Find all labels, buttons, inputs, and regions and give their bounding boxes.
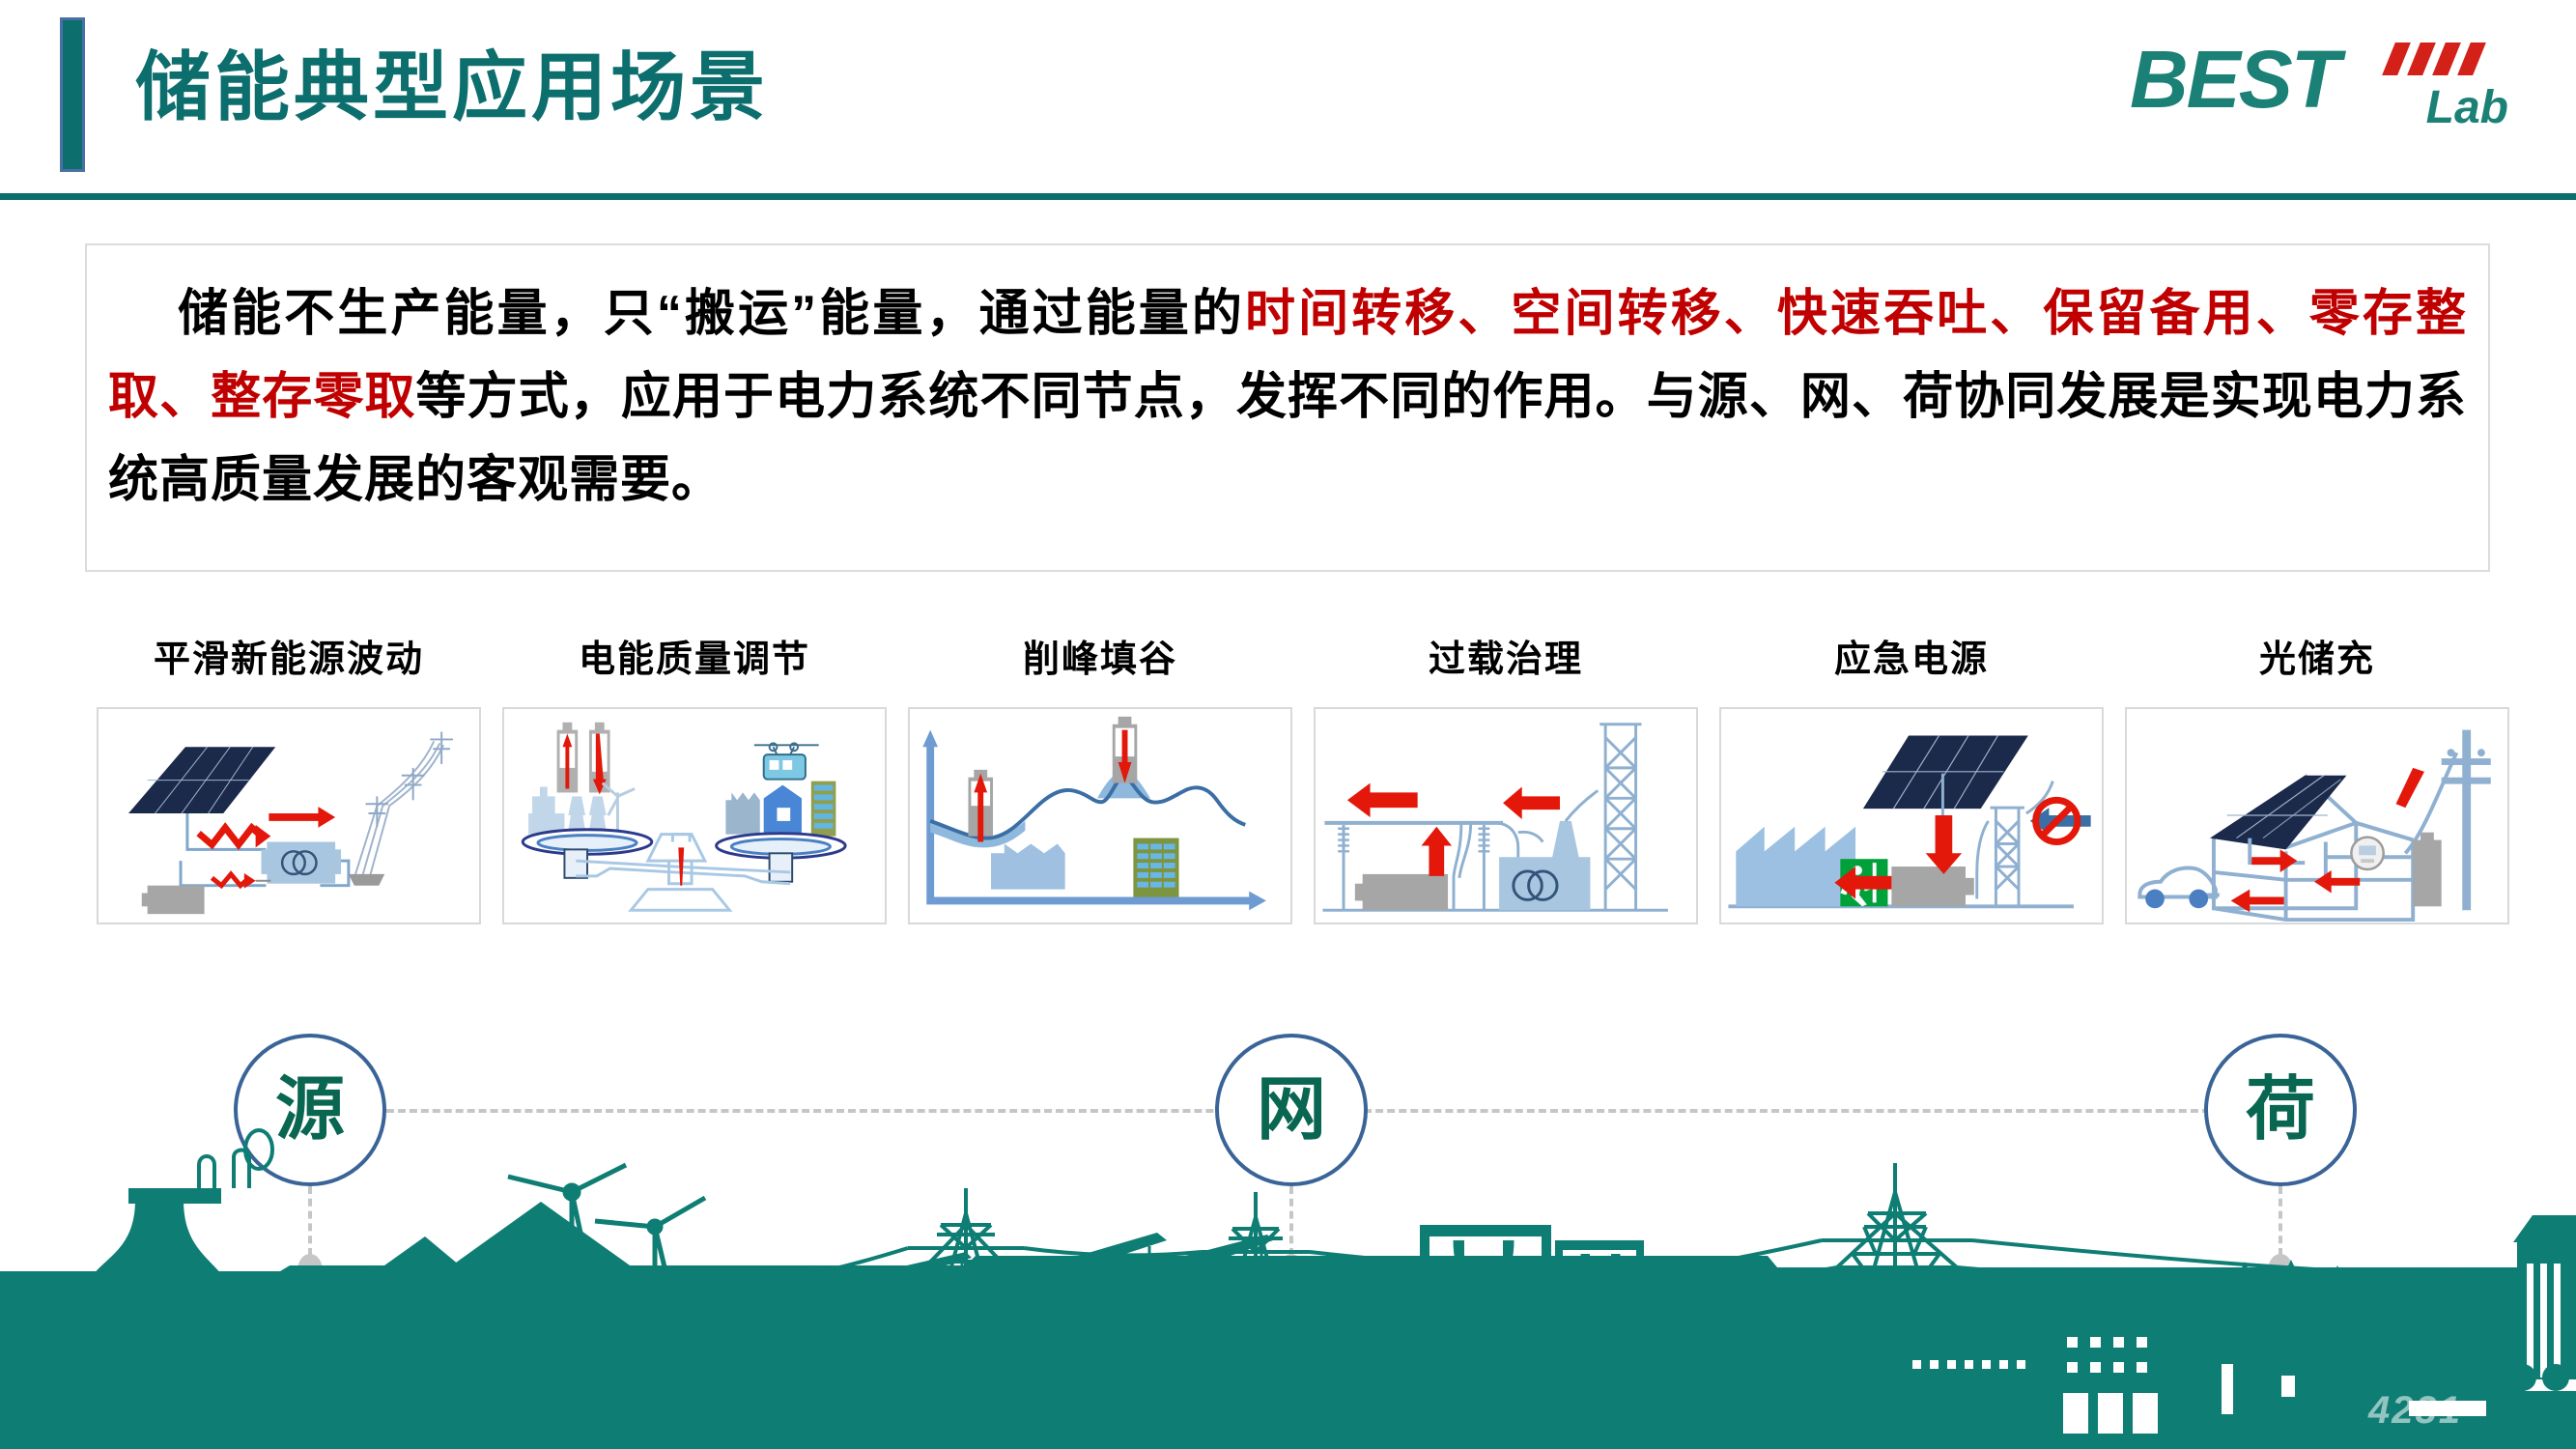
logo-stripe-icon — [2457, 43, 2486, 75]
solar-smoothing-icon — [97, 707, 481, 924]
logo-lab-text: Lab — [2426, 83, 2508, 133]
header-divider — [0, 193, 2576, 200]
scenario-label: 应急电源 — [1719, 638, 2104, 682]
logo-stripe-icon — [2432, 43, 2461, 75]
overload-management-icon — [1314, 707, 1698, 924]
page-title: 储能典型应用场景 — [135, 29, 769, 145]
slide-header: 储能典型应用场景 BEST Lab — [0, 0, 2576, 198]
scenario-card-row: 平滑新能源波动 — [97, 638, 2511, 956]
scenario-label: 电能质量调节 — [502, 638, 887, 682]
logo-stripe-icon — [2382, 43, 2411, 75]
connector-grid-load — [1352, 1109, 2222, 1113]
intro-line1-highlight: 时间转移、空间转移、快速吞吐、保留备用、 — [1245, 286, 2309, 342]
connector-source-grid — [386, 1109, 1294, 1113]
scenario-card-power-quality[interactable]: 电能质量调节 — [502, 638, 887, 956]
scenario-card-emergency-power[interactable]: 应急电源 — [1719, 638, 2104, 956]
scenario-label: 过载治理 — [1314, 638, 1698, 682]
scenario-label: 光储充 — [2125, 638, 2509, 682]
intro-paragraph: 储能不生产能量，只“搬运”能量，通过能量的时间转移、空间转移、快速吞吐、保留备用… — [108, 272, 2467, 522]
scenario-card-pv-storage-charging[interactable]: 光储充 — [2125, 638, 2509, 956]
power-quality-balance-icon — [502, 707, 887, 924]
intro-text-box: 储能不生产能量，只“搬运”能量，通过能量的时间转移、空间转移、快速吞吐、保留备用… — [85, 243, 2490, 572]
power-system-landscape — [0, 1121, 2576, 1449]
scenario-card-overload[interactable]: 过载治理 — [1314, 638, 1698, 956]
peak-shaving-curve-icon — [908, 707, 1292, 924]
slide-root: 储能典型应用场景 BEST Lab 储能不生产能量，只“搬运”能量，通过能量的时… — [0, 0, 2576, 1449]
intro-line1-plain: 储能不生产能量，只“搬运”能量，通过能量的 — [176, 286, 1245, 342]
pv-storage-charging-icon — [2125, 707, 2509, 924]
best-lab-logo: BEST Lab — [2130, 27, 2516, 148]
watermark: 4231 — [2368, 1389, 2462, 1432]
title-accent-bar — [60, 17, 85, 172]
logo-stripe-icon — [2407, 43, 2436, 75]
scenario-card-peak-shaving[interactable]: 削峰填谷 — [908, 638, 1292, 956]
intro-line2-plain: 等方式，应用于电力系统不同节点，发挥不同的作用。与源、网、荷协同发展是实现电力系… — [108, 369, 2467, 508]
scenario-label: 削峰填谷 — [908, 638, 1292, 682]
emergency-power-icon — [1719, 707, 2104, 924]
scenario-label: 平滑新能源波动 — [97, 638, 481, 682]
logo-wordmark: BEST — [2130, 35, 2338, 124]
scenario-card-smoothing[interactable]: 平滑新能源波动 — [97, 638, 481, 956]
